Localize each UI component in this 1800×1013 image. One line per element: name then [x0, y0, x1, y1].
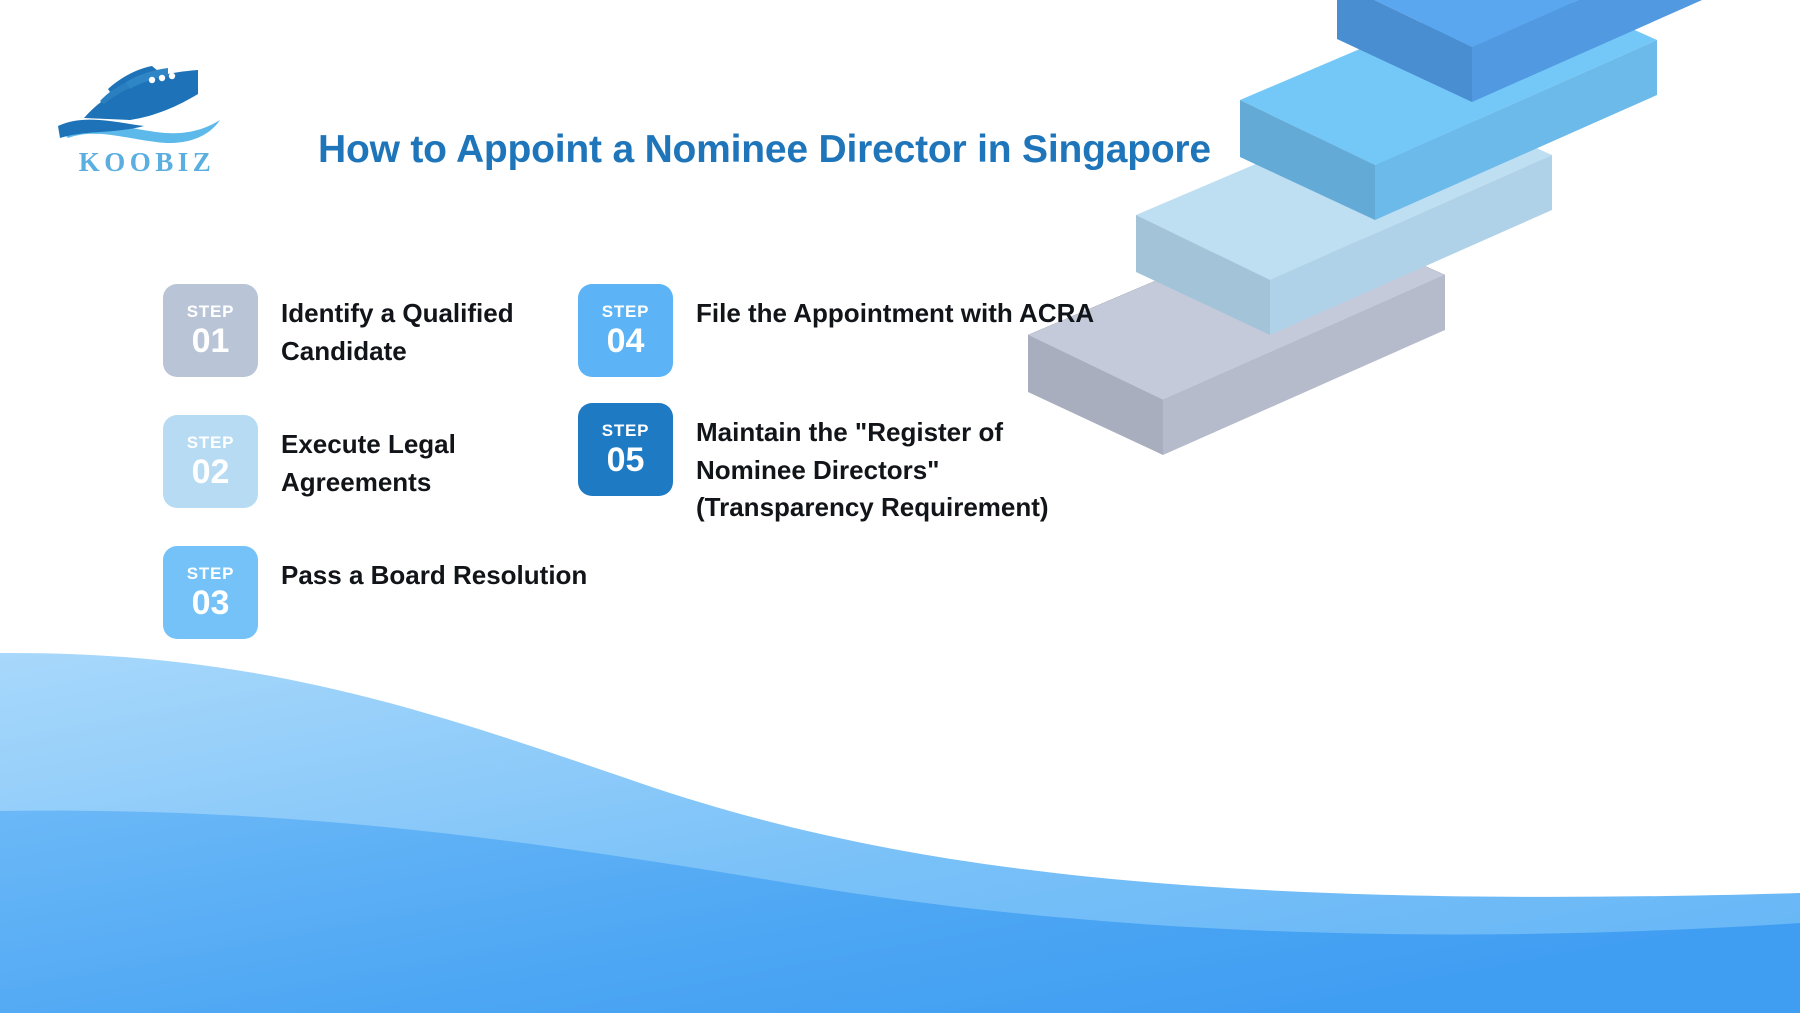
step-badge-word: STEP — [187, 434, 235, 451]
step-item[interactable]: STEP 04 File the Appointment with ACRA — [578, 284, 1096, 377]
step-item[interactable]: STEP 02 Execute Legal Agreements — [163, 415, 601, 508]
step-badge-number: 02 — [192, 455, 230, 489]
step-badge-word: STEP — [602, 422, 650, 439]
step-badge: STEP 04 — [578, 284, 673, 377]
step-badge-number: 04 — [607, 324, 645, 358]
step-item[interactable]: STEP 03 Pass a Board Resolution — [163, 546, 601, 639]
step-badge-word: STEP — [602, 303, 650, 320]
page-title: How to Appoint a Nominee Director in Sin… — [318, 128, 1211, 172]
steps-column-right: STEP 04 File the Appointment with ACRA S… — [578, 284, 1096, 553]
step-label: File the Appointment with ACRA — [696, 284, 1094, 333]
step-badge-number: 03 — [192, 586, 230, 620]
step-item[interactable]: STEP 01 Identify a Qualified Candidate — [163, 284, 601, 377]
step-badge: STEP 01 — [163, 284, 258, 377]
step-badge: STEP 05 — [578, 403, 673, 496]
step-label: Maintain the "Register of Nominee Direct… — [696, 403, 1096, 527]
step-label: Pass a Board Resolution — [281, 546, 587, 595]
step-item[interactable]: STEP 05 Maintain the "Register of Nomine… — [578, 403, 1096, 527]
yacht-wave-logo-icon — [52, 58, 242, 153]
step-badge-word: STEP — [187, 303, 235, 320]
step-badge-number: 05 — [607, 443, 645, 477]
step-badge: STEP 02 — [163, 415, 258, 508]
step-badge-number: 01 — [192, 324, 230, 358]
step-label: Execute Legal Agreements — [281, 415, 601, 501]
brand-logo[interactable]: KOOBIZ — [52, 58, 242, 188]
brand-wordmark: KOOBIZ — [52, 147, 242, 178]
steps-column-left: STEP 01 Identify a Qualified Candidate S… — [163, 284, 601, 677]
step-badge-word: STEP — [187, 565, 235, 582]
step-label: Identify a Qualified Candidate — [281, 284, 601, 370]
step-badge: STEP 03 — [163, 546, 258, 639]
